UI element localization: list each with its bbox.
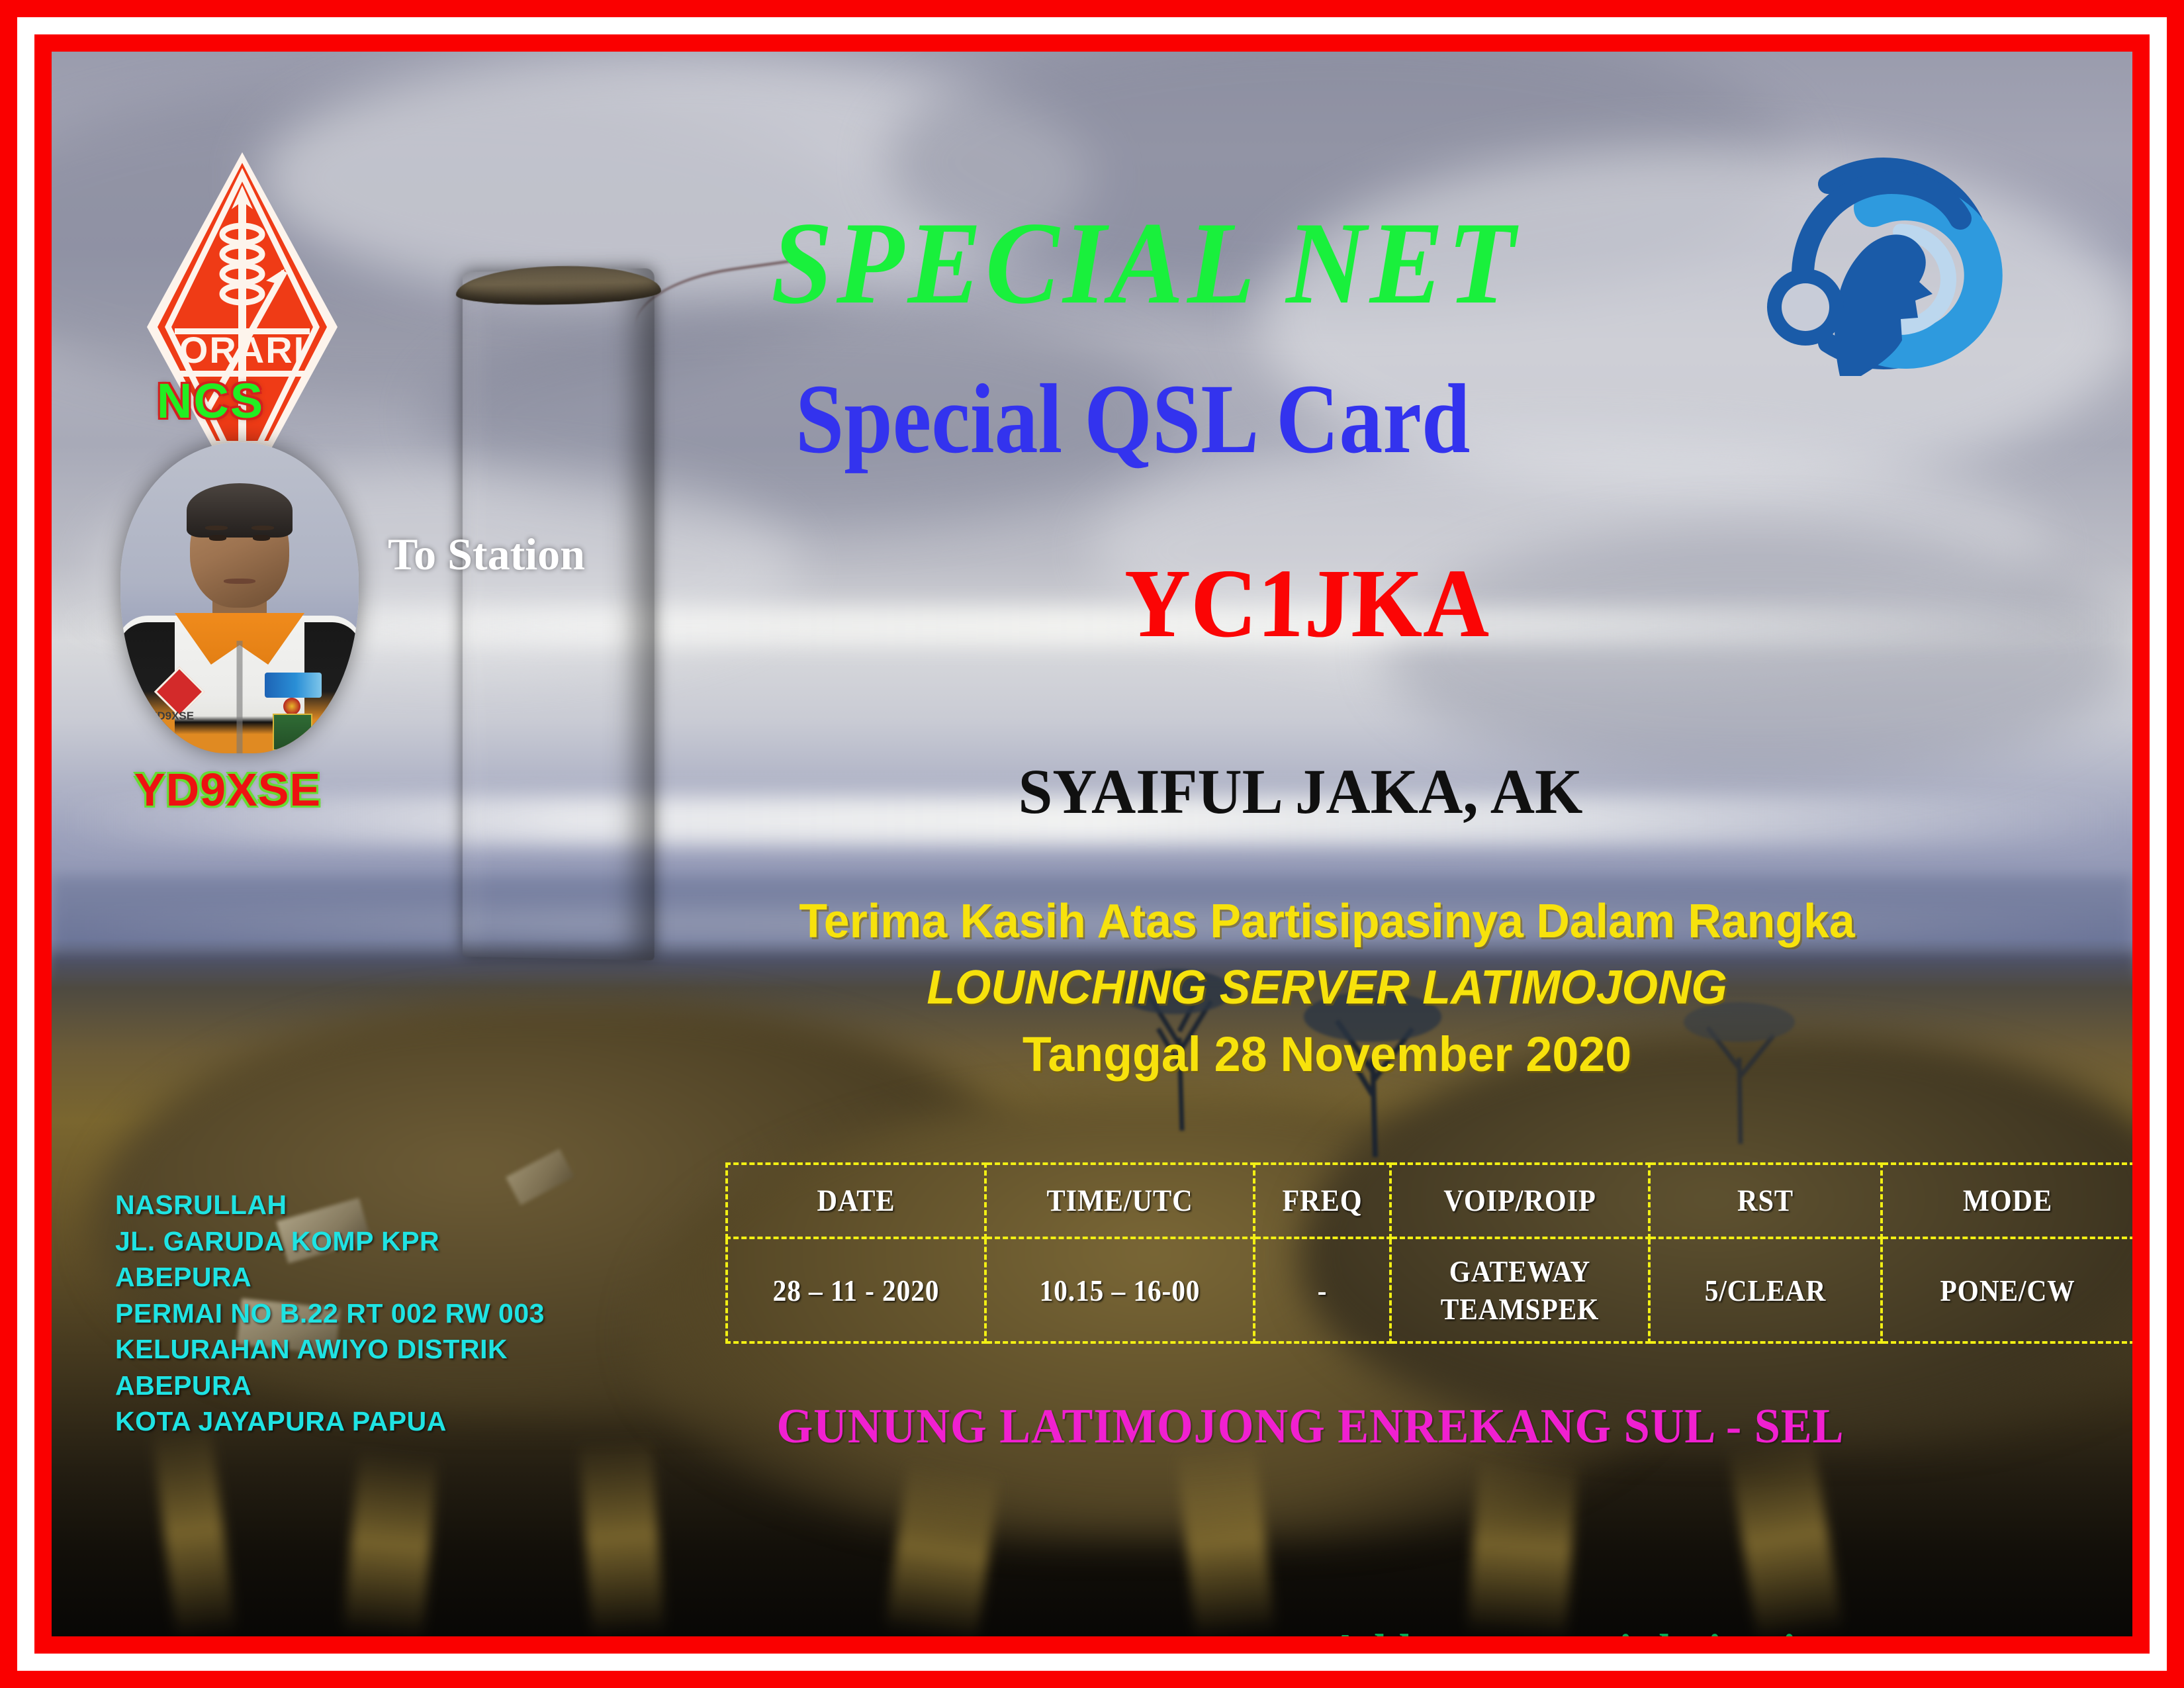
header-freq: FREQ: [1261, 1164, 1383, 1238]
address-line: JL. GARUDA KOMP KPR: [115, 1223, 545, 1260]
event-thanks-line: Terima Kasih Atas Partisipasinya Dalam R…: [751, 898, 1903, 945]
header-time: TIME/UTC: [999, 1164, 1240, 1238]
grass: [579, 1436, 666, 1636]
shirt-callsign-text: YD9XSE: [150, 710, 229, 723]
header-voip: VOIP/ROIP: [1404, 1164, 1637, 1238]
cell-time: 10.15 – 16-00: [999, 1238, 1240, 1342]
address-line: ABEPURA: [115, 1368, 545, 1404]
qso-table: DATE TIME/UTC FREQ VOIP/ROIP RST MODE 28…: [725, 1162, 2132, 1344]
website-address: Address : amatir.latimojong.com: [1329, 1627, 1956, 1636]
eyebrow: [251, 526, 274, 530]
cell-mode: PONE/CW: [1894, 1238, 2121, 1342]
cell-date: 28 – 11 - 2020: [740, 1238, 973, 1342]
address-line: PERMAI NO B.22 RT 002 RW 003: [115, 1295, 545, 1332]
shirt-club-logo: [265, 673, 322, 698]
mouth: [224, 579, 255, 584]
address-line: ABEPURA: [115, 1259, 545, 1295]
ncs-portrait-photo: YD9XSE: [120, 442, 359, 753]
lanyard-reel: [283, 698, 300, 715]
to-station-label: To Station: [388, 528, 585, 581]
grass: [343, 1448, 438, 1636]
header-date: DATE: [740, 1164, 973, 1238]
ncs-label: NCS: [111, 373, 310, 429]
eye: [253, 535, 270, 541]
page-subtitle: Special QSL Card: [177, 369, 2008, 469]
header-rst: RST: [1661, 1164, 1870, 1238]
cell-freq: -: [1261, 1238, 1383, 1342]
address-line: NASRULLAH: [115, 1187, 545, 1223]
header-mode: MODE: [1894, 1164, 2121, 1238]
grass: [1467, 1454, 1578, 1636]
eye: [209, 535, 226, 541]
hair: [187, 483, 293, 538]
cell-voip-line1: GATEWAY: [1405, 1252, 1635, 1291]
event-title-line: LOUNCHING SERVER LATIMOJONG: [751, 964, 1903, 1011]
qsl-card: ORARI SPECIAL NET Special QSL Card To St…: [0, 0, 2184, 1688]
address-line: KELURAHAN AWIYO DISTRIK: [115, 1331, 545, 1368]
station-callsign: YC1JKA: [821, 555, 1794, 653]
page-title: SPECIAL NET: [114, 204, 2070, 322]
cell-voip-line2: TEAMSPEK: [1405, 1290, 1635, 1329]
slogan: "AMATIR RADIO ADALAH PROGRESIVE": [124, 1630, 960, 1636]
id-badge: [273, 714, 312, 751]
table-header-row: DATE TIME/UTC FREQ VOIP/ROIP RST MODE: [727, 1164, 2132, 1238]
table-row: 28 – 11 - 2020 10.15 – 16-00 - GATEWAY T…: [727, 1238, 2132, 1342]
shirt-placket: [237, 641, 243, 753]
cell-rst: 5/CLEAR: [1661, 1238, 1870, 1342]
address-line: KOTA JAYAPURA PAPUA: [115, 1403, 545, 1440]
eyebrow: [205, 526, 228, 530]
operator-name: SYAIFUL JAKA, AK: [782, 760, 1819, 823]
background-photo: ORARI SPECIAL NET Special QSL Card To St…: [52, 52, 2132, 1636]
orari-logo-text: ORARI: [179, 329, 305, 371]
address-block: NASRULLAH JL. GARUDA KOMP KPR ABEPURA PE…: [115, 1187, 545, 1440]
location-line: GUNUNG LATIMOJONG ENREKANG SUL - SEL: [718, 1402, 1903, 1451]
ncs-callsign: YD9XSE: [95, 763, 360, 816]
cell-voip: GATEWAY TEAMSPEK: [1404, 1238, 1637, 1342]
event-date-line: Tanggal 28 November 2020: [751, 1030, 1903, 1079]
